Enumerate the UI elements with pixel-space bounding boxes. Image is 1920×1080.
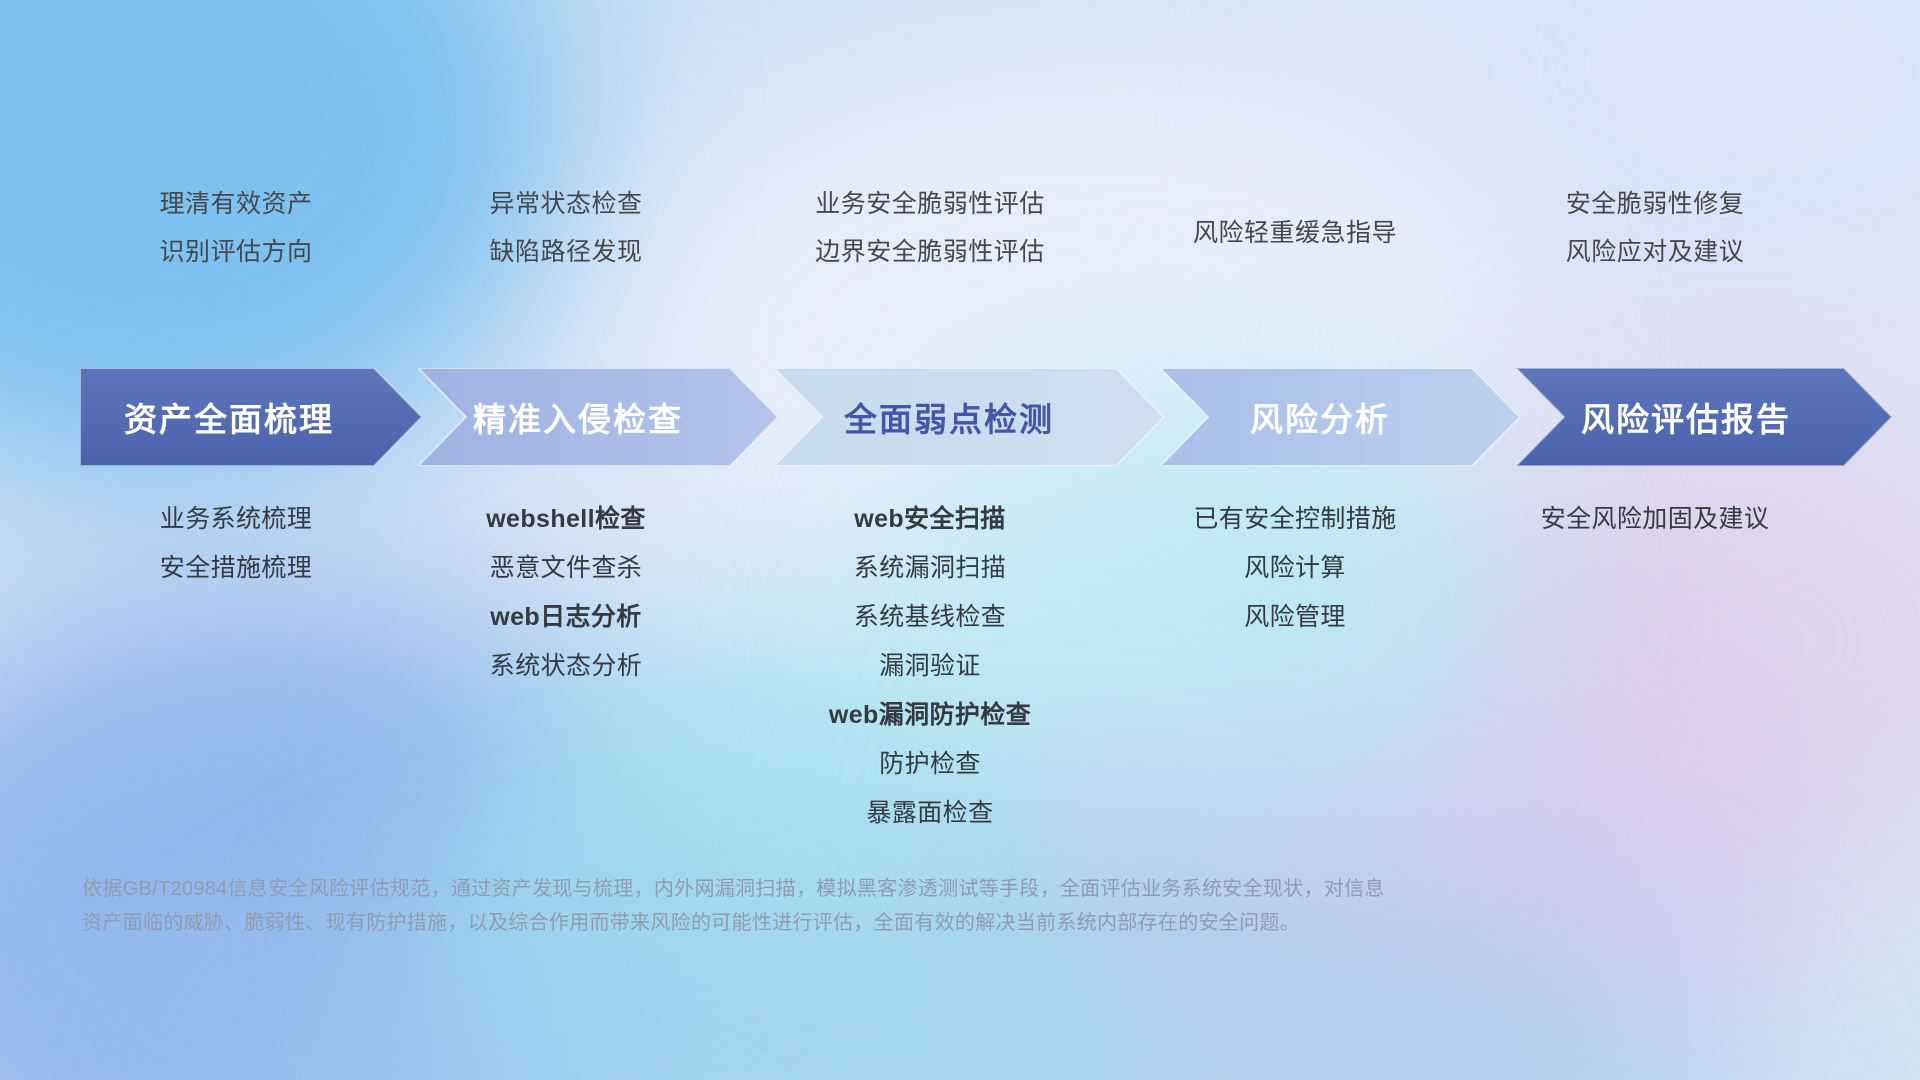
- footer-description: 依据GB/T20984信息安全风险评估规范，通过资产发现与梳理，内外网漏洞扫描，…: [82, 872, 1582, 940]
- stage-chevron-intrusion-check[interactable]: 精准入侵检查: [418, 368, 778, 466]
- list-item: 业务系统梳理: [160, 495, 312, 544]
- list-item: 恶意文件查杀: [490, 544, 642, 593]
- top-caption: 业务安全脆弱性评估: [815, 180, 1045, 228]
- stage-chevron-weakness-detection[interactable]: 全面弱点检测: [774, 368, 1164, 466]
- top-captions-assessment-report: 安全脆弱性修复 风险应对及建议: [1470, 180, 1840, 285]
- process-diagram: 理清有效资产 识别评估方向 异常状态检查 缺陷路径发现 业务安全脆弱性评估 边界…: [0, 0, 1920, 1080]
- stage-items-risk-analysis: 已有安全控制措施 风险计算 风险管理: [1120, 495, 1470, 735]
- top-caption: 理清有效资产: [159, 180, 312, 228]
- stage-chevron-band: 资产全面梳理 精准入侵检查: [80, 368, 1840, 466]
- stage-items-row: 业务系统梳理 安全措施梳理 webshell检查 恶意文件查杀 web日志分析 …: [80, 495, 1840, 735]
- top-captions-weakness-detection: 业务安全脆弱性评估 边界安全脆弱性评估: [740, 180, 1120, 285]
- list-item: 漏洞验证: [879, 642, 981, 691]
- stage-title: 资产全面梳理: [124, 393, 334, 441]
- top-caption: 识别评估方向: [159, 228, 312, 276]
- list-item: 安全风险加固及建议: [1541, 495, 1770, 544]
- footer-line-1: 依据GB/T20984信息安全风险评估规范，通过资产发现与梳理，内外网漏洞扫描，…: [82, 872, 1582, 906]
- top-caption: 边界安全脆弱性评估: [815, 228, 1045, 276]
- list-item: web日志分析: [490, 593, 641, 642]
- stage-items-intrusion-check: webshell检查 恶意文件查杀 web日志分析 系统状态分析: [392, 495, 740, 735]
- top-caption: 异常状态检查: [489, 180, 642, 228]
- top-caption: 缺陷路径发现: [489, 228, 642, 276]
- stage-chevron-asset-inventory[interactable]: 资产全面梳理: [80, 368, 422, 466]
- stage-items-weakness-detection: web安全扫描 系统漏洞扫描 系统基线检查 漏洞验证 web漏洞防护检查 防护检…: [740, 495, 1120, 735]
- top-caption: 风险应对及建议: [1566, 228, 1745, 276]
- stage-title: 风险评估报告: [1581, 393, 1791, 441]
- list-item: 安全措施梳理: [160, 544, 312, 593]
- top-captions-risk-analysis: 风险轻重缓急指导: [1120, 180, 1470, 285]
- stage-items-assessment-report: 安全风险加固及建议: [1470, 495, 1840, 735]
- top-captions-row: 理清有效资产 识别评估方向 异常状态检查 缺陷路径发现 业务安全脆弱性评估 边界…: [80, 180, 1840, 285]
- stage-items-asset-inventory: 业务系统梳理 安全措施梳理: [80, 495, 392, 735]
- list-item: web安全扫描: [854, 495, 1005, 544]
- stage-title: 精准入侵检查: [473, 393, 683, 441]
- stage-title: 风险分析: [1250, 393, 1390, 441]
- list-item: 系统状态分析: [490, 642, 642, 691]
- top-caption: 风险轻重缓急指导: [1193, 209, 1397, 257]
- top-captions-intrusion-check: 异常状态检查 缺陷路径发现: [392, 180, 740, 285]
- list-item: 暴露面检查: [866, 789, 993, 838]
- top-caption: 安全脆弱性修复: [1566, 180, 1745, 228]
- top-captions-asset-inventory: 理清有效资产 识别评估方向: [80, 180, 392, 285]
- list-item: 已有安全控制措施: [1193, 495, 1396, 544]
- list-item: webshell检查: [486, 495, 646, 544]
- list-item: web漏洞防护检查: [829, 691, 1031, 740]
- stage-chevron-assessment-report[interactable]: 风险评估报告: [1516, 368, 1892, 466]
- list-item: 风险计算: [1244, 544, 1346, 593]
- list-item: 防护检查: [879, 740, 981, 789]
- list-item: 风险管理: [1244, 593, 1346, 642]
- stage-chevron-risk-analysis[interactable]: 风险分析: [1160, 368, 1520, 466]
- list-item: 系统漏洞扫描: [854, 544, 1006, 593]
- list-item: 系统基线检查: [854, 593, 1006, 642]
- stage-title: 全面弱点检测: [844, 393, 1054, 441]
- footer-line-2: 资产面临的威胁、脆弱性、现有防护措施，以及综合作用而带来风险的可能性进行评估，全…: [82, 906, 1582, 940]
